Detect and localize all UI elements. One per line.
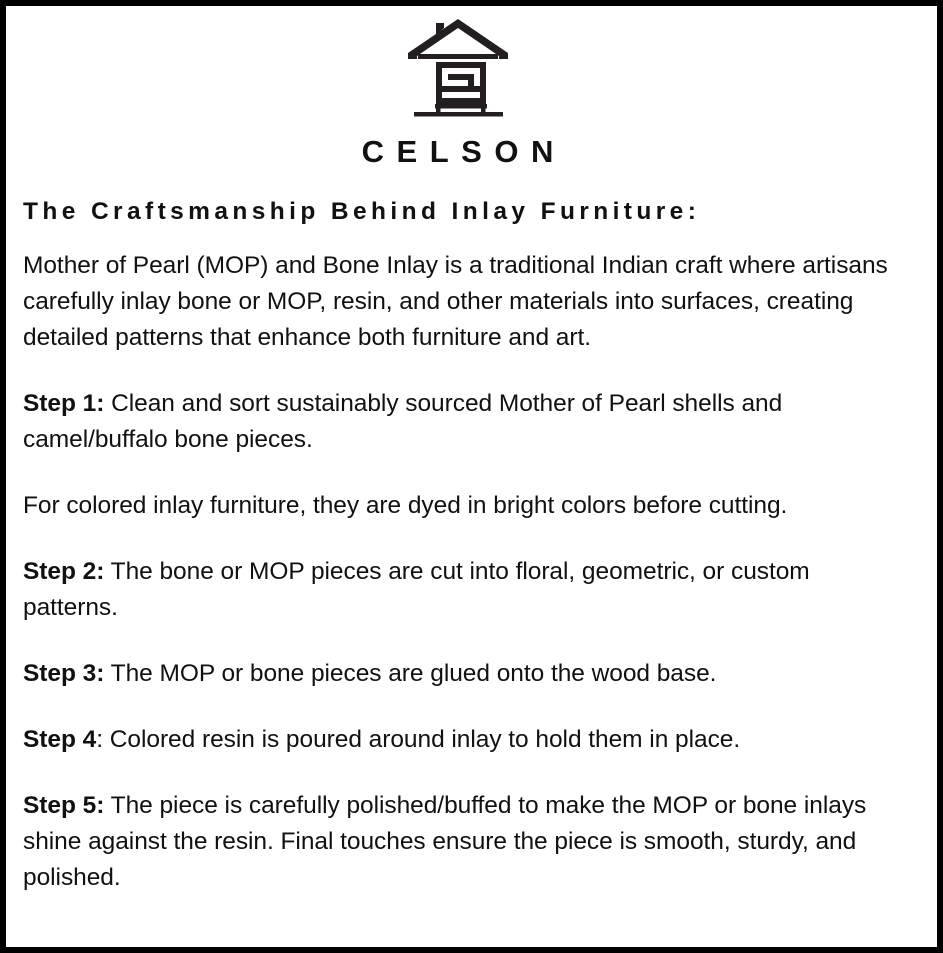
step-2-text: The bone or MOP pieces are cut into flor… [23,558,810,621]
step-4-paragraph: Step 4: Colored resin is poured around i… [23,722,899,758]
brand-wordmark: CELSON [16,136,899,167]
step-2-paragraph: Step 2: The bone or MOP pieces are cut i… [23,554,899,626]
step-4-label: Step 4 [23,726,96,753]
step-5-label: Step 5 [23,792,96,819]
body-copy: Mother of Pearl (MOP) and Bone Inlay is … [23,226,899,896]
colored-inlay-note: For colored inlay furniture, they are dy… [23,488,899,524]
step-1-paragraph: Step 1: Clean and sort sustainably sourc… [23,386,899,458]
poster-card: CELSON The Craftsmanship Behind Inlay Fu… [0,0,943,953]
page-title: The Craftsmanship Behind Inlay Furniture… [23,197,899,226]
poster-inner: CELSON The Craftsmanship Behind Inlay Fu… [6,6,937,947]
intro-paragraph: Mother of Pearl (MOP) and Bone Inlay is … [23,248,899,356]
step-5-text: The piece is carefully polished/buffed t… [23,792,866,891]
step-4-colon: : [96,726,103,753]
step-1-text: Clean and sort sustainably sourced Mothe… [23,390,782,453]
step-2-label: Step 2 [23,558,96,585]
step-3-label: Step 3 [23,660,96,687]
house-monogram-icon [405,16,511,120]
step-3-text: The MOP or bone pieces are glued onto th… [104,660,716,687]
step-5-paragraph: Step 5: The piece is carefully polished/… [23,788,899,896]
step-3-paragraph: Step 3: The MOP or bone pieces are glued… [23,656,899,692]
brand-block: CELSON [16,10,899,167]
step-4-text: Colored resin is poured around inlay to … [103,726,740,753]
step-1-label: Step 1 [23,390,96,417]
